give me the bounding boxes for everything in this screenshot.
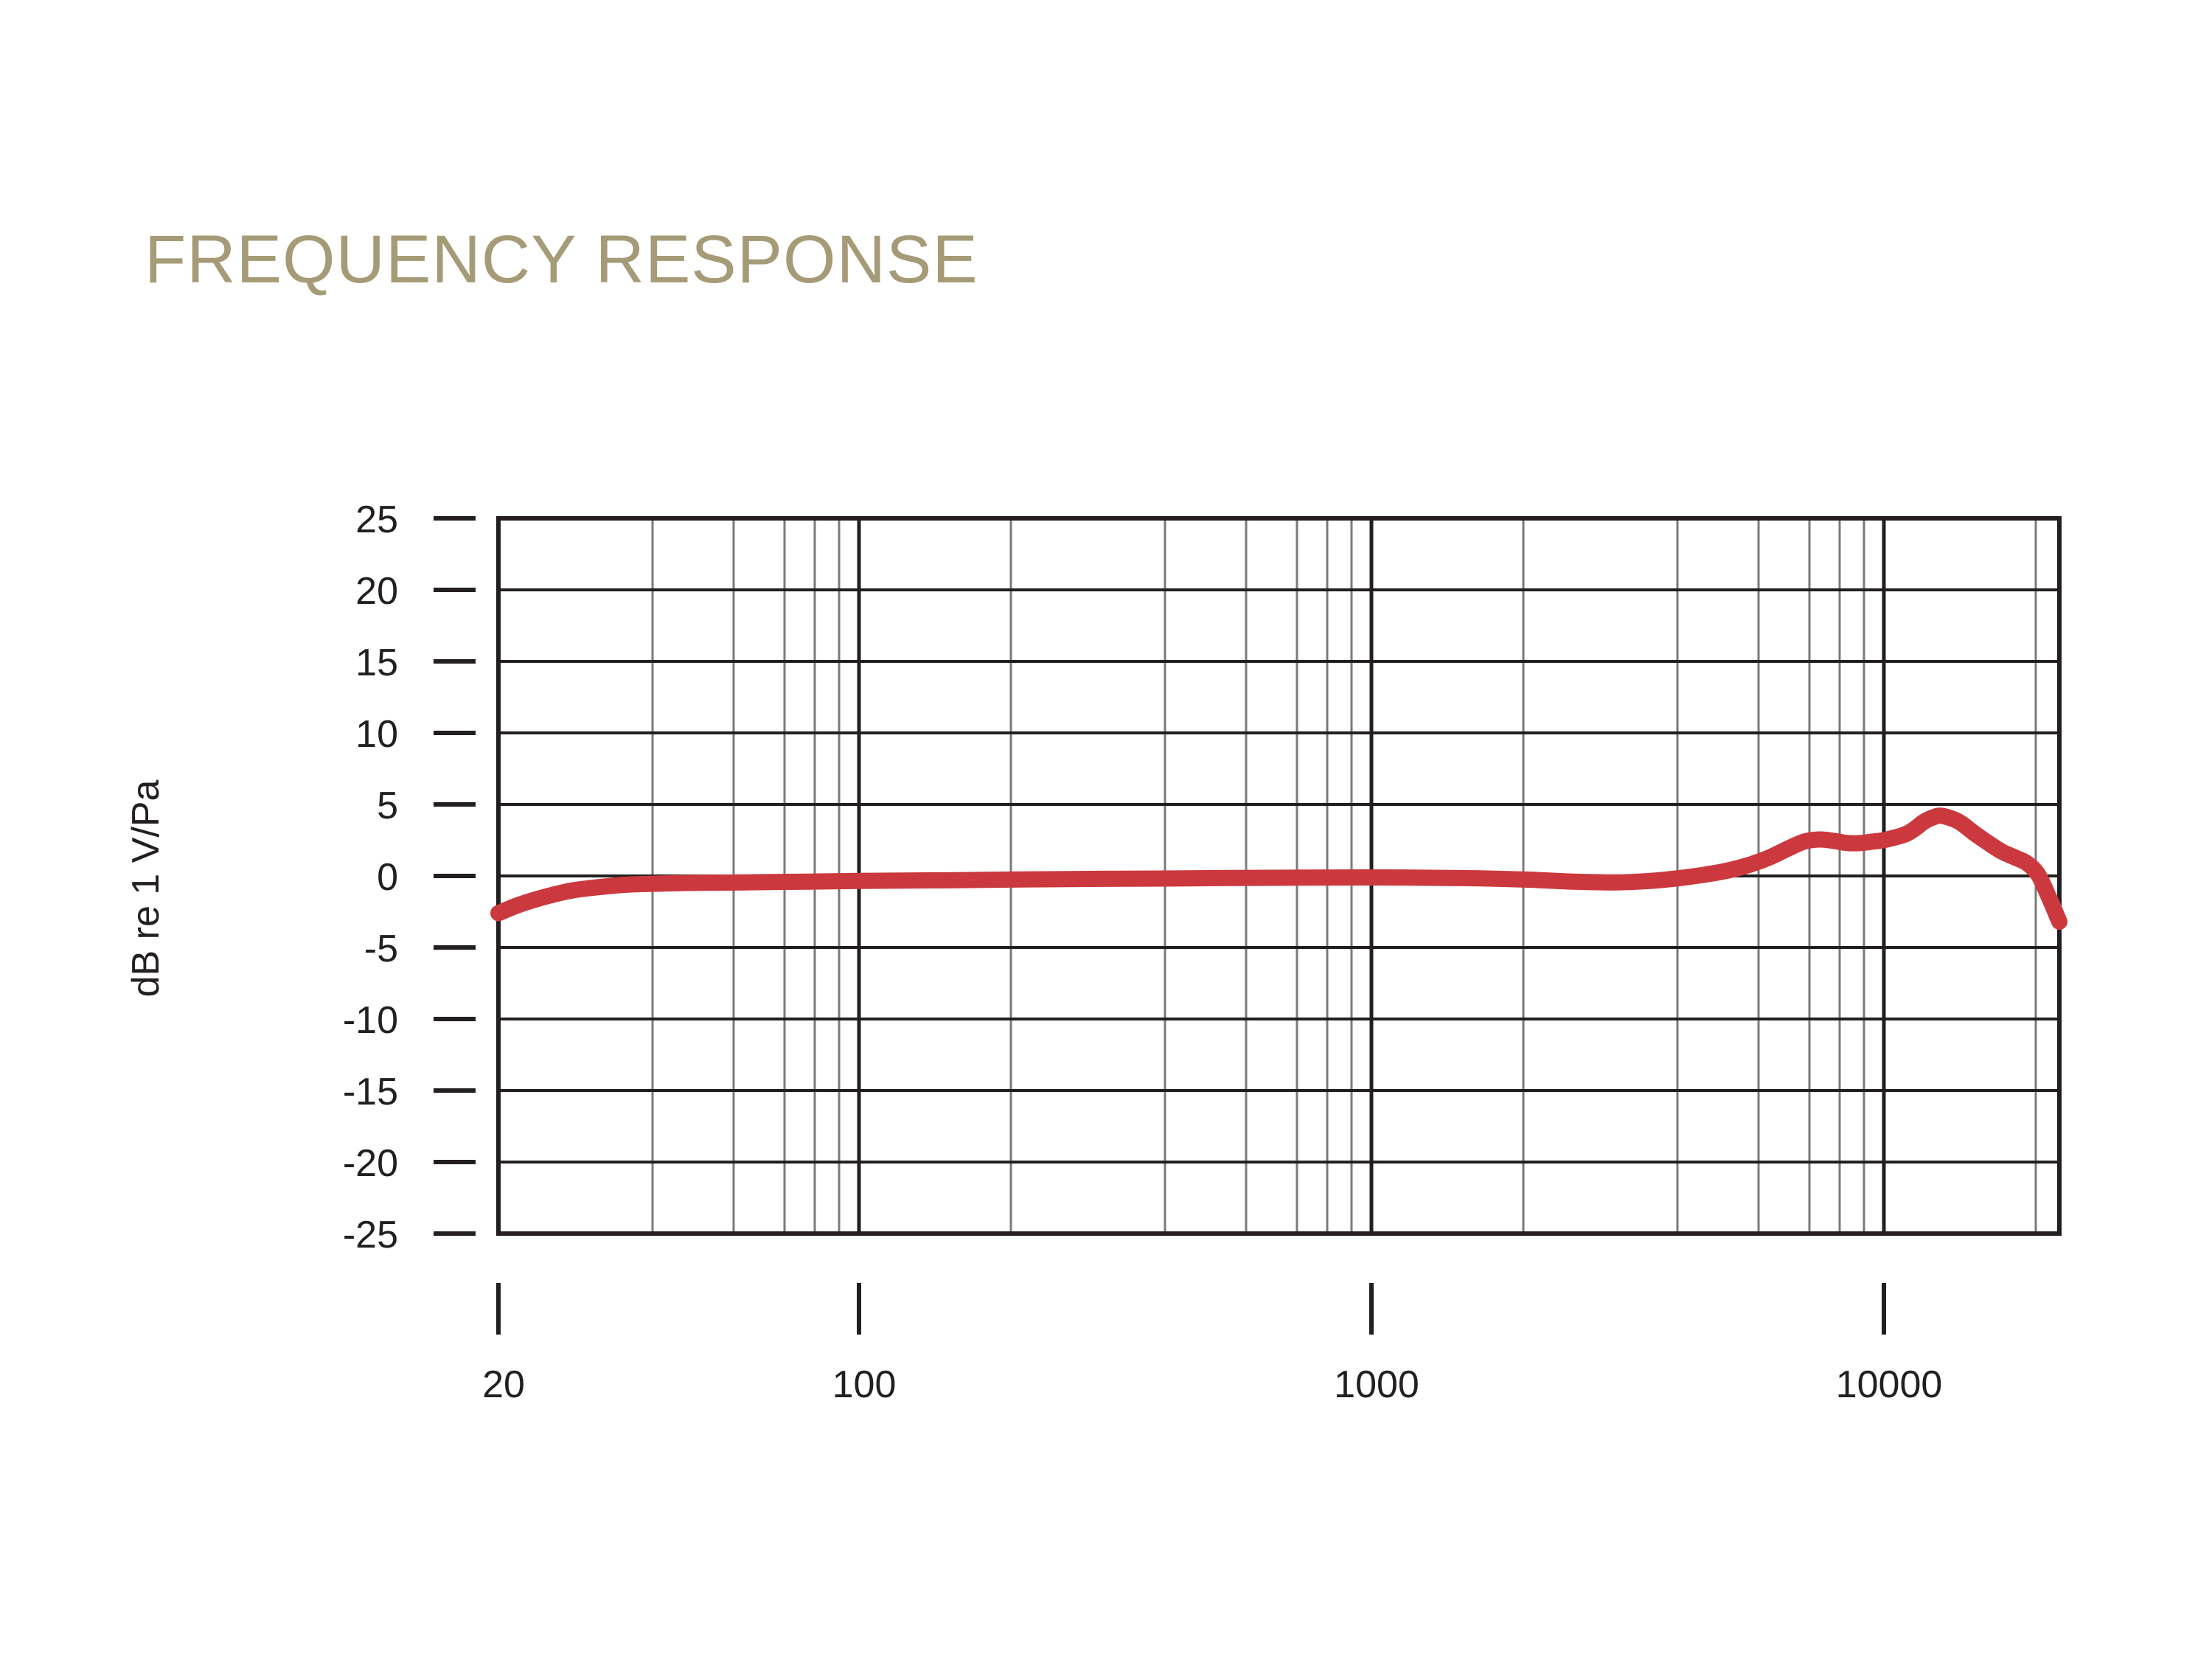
- y-tick-label: -10: [343, 999, 398, 1042]
- x-tick-label: 10000: [1836, 1363, 1943, 1406]
- x-axis-ticks: [498, 1283, 1884, 1335]
- y-tick-label: 5: [377, 785, 398, 827]
- y-tick-label: -25: [343, 1214, 398, 1256]
- x-tick-label: 1000: [1334, 1363, 1419, 1406]
- y-tick-label: -20: [343, 1142, 398, 1185]
- x-tick-label: 100: [832, 1363, 897, 1406]
- y-tick-label: 0: [377, 856, 398, 899]
- frequency-response-chart: 25 20 15 10 5 0 -5 -10 -15 -20 -25 dB re…: [0, 0, 2212, 1659]
- y-tick-label: -5: [364, 928, 398, 970]
- x-tick-label: 20: [482, 1363, 525, 1406]
- y-axis-ticks: [434, 518, 476, 1234]
- y-axis-title: dB re 1 V/Pa: [125, 780, 167, 998]
- x-tick-labels: 20 100 1000 10000: [482, 1363, 1942, 1406]
- y-tick-label: 15: [355, 641, 398, 684]
- chart-svg: 25 20 15 10 5 0 -5 -10 -15 -20 -25 dB re…: [0, 0, 2212, 1659]
- y-tick-label: 10: [355, 713, 398, 756]
- y-tick-label: 25: [355, 498, 398, 541]
- y-tick-label: 20: [355, 570, 398, 613]
- y-tick-label: -15: [343, 1071, 398, 1113]
- y-tick-labels: 25 20 15 10 5 0 -5 -10 -15 -20 -25: [343, 498, 398, 1256]
